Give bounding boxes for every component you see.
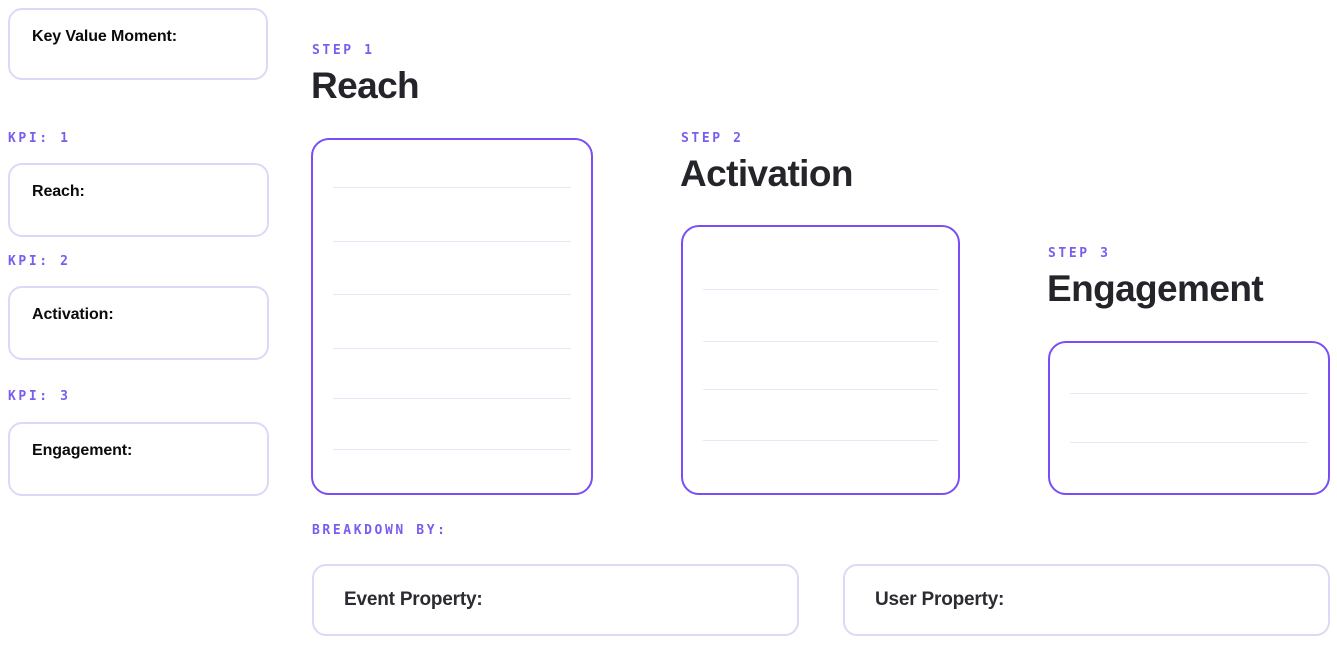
- worksheet-canvas: Key Value Moment: KPI: 1 Reach: KPI: 2 A…: [0, 0, 1337, 646]
- kpi-1-tag: KPI: 1: [8, 132, 71, 145]
- rule-line: [333, 294, 571, 295]
- user-property-box[interactable]: User Property:: [843, 564, 1330, 636]
- event-property-label: Event Property:: [314, 589, 482, 611]
- kpi-2-label: Activation:: [10, 288, 114, 324]
- rule-line: [703, 389, 938, 390]
- rule-line: [703, 440, 938, 441]
- kpi-2-box[interactable]: Activation:: [8, 286, 269, 360]
- rule-line: [333, 241, 571, 242]
- rule-line: [703, 341, 938, 342]
- key-value-moment-label: Key Value Moment:: [10, 10, 177, 46]
- step-3-rule-lines: [1070, 343, 1308, 493]
- rule-line: [333, 449, 571, 450]
- rule-line: [1070, 393, 1308, 394]
- rule-line: [333, 187, 571, 188]
- event-property-box[interactable]: Event Property:: [312, 564, 799, 636]
- key-value-moment-box[interactable]: Key Value Moment:: [8, 8, 268, 80]
- step-2-tag: STEP 2: [681, 132, 744, 145]
- rule-line: [333, 348, 571, 349]
- step-1-title: Reach: [311, 66, 419, 106]
- breakdown-by-tag: BREAKDOWN BY:: [312, 524, 448, 537]
- step-1-card[interactable]: [311, 138, 593, 495]
- step-3-title: Engagement: [1047, 269, 1263, 309]
- step-3-tag: STEP 3: [1048, 247, 1111, 260]
- kpi-3-label: Engagement:: [10, 424, 132, 460]
- rule-line: [703, 289, 938, 290]
- step-2-title: Activation: [680, 154, 853, 194]
- step-2-rule-lines: [703, 227, 938, 493]
- step-2-card[interactable]: [681, 225, 960, 495]
- kpi-1-label: Reach:: [10, 165, 85, 201]
- kpi-3-tag: KPI: 3: [8, 390, 71, 403]
- kpi-1-box[interactable]: Reach:: [8, 163, 269, 237]
- step-1-tag: STEP 1: [312, 44, 375, 57]
- user-property-label: User Property:: [845, 589, 1004, 611]
- step-1-rule-lines: [333, 140, 571, 493]
- step-3-card[interactable]: [1048, 341, 1330, 495]
- kpi-2-tag: KPI: 2: [8, 255, 71, 268]
- kpi-3-box[interactable]: Engagement:: [8, 422, 269, 496]
- rule-line: [333, 398, 571, 399]
- rule-line: [1070, 442, 1308, 443]
